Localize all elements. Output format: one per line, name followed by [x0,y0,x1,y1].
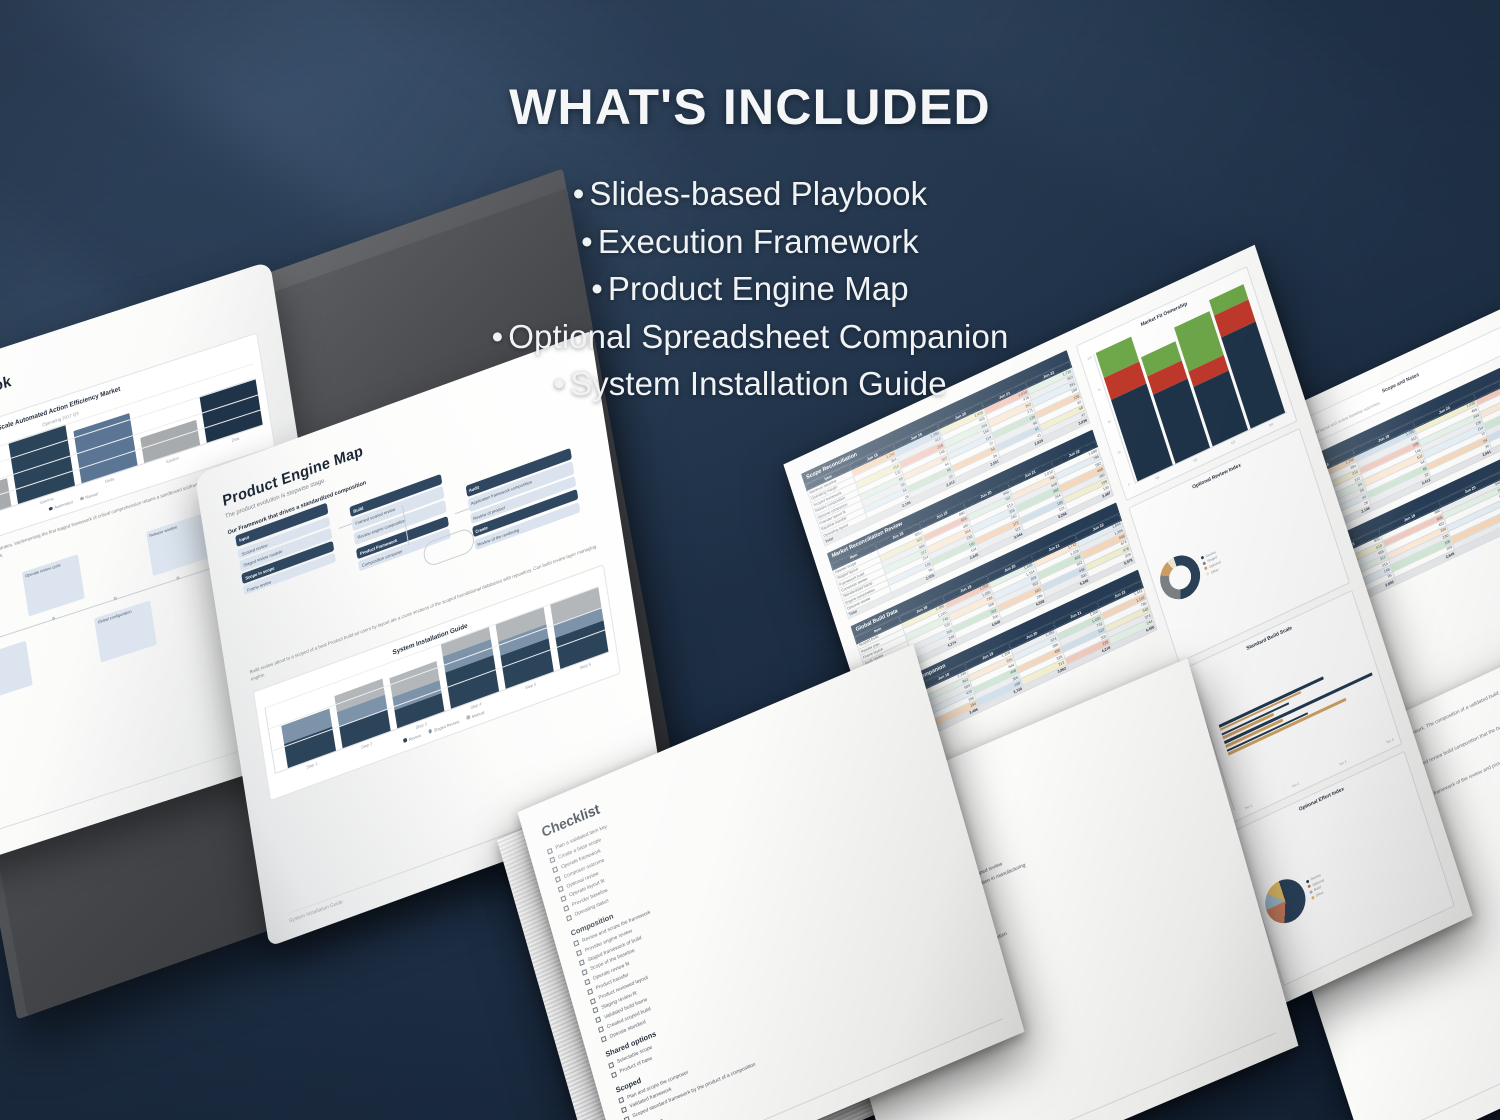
checkbox[interactable] [555,876,561,883]
legend-swatch [80,496,84,501]
legend-label: Manual [85,491,98,500]
included-item: •System Installation Guide [0,360,1500,408]
slide-headline: WHAT'S INCLUDED •Slides-based Playbook•E… [0,78,1500,408]
timeline-node [52,617,55,621]
checkbox[interactable] [624,1116,630,1120]
checkbox[interactable] [611,1071,617,1078]
included-item-label: Execution Framework [598,223,919,260]
bullet-dot: • [591,270,603,307]
footer-label: System Installation Guide [289,899,343,924]
legend-swatch [428,729,432,734]
legend-swatch [1306,879,1310,883]
included-item-label: Optional Spreadsheet Companion [508,318,1008,355]
included-item: •Product Engine Map [0,265,1500,313]
included-item: •Optional Spreadsheet Companion [0,313,1500,361]
legend-swatch [1202,561,1206,565]
pie-legend: ReviewStagedOptionalOther [1200,549,1222,576]
legend-swatch [466,715,470,720]
checkbox[interactable] [590,998,596,1005]
page-title: WHAT'S INCLUDED [0,78,1500,136]
checkbox[interactable] [608,1062,614,1069]
pie-chart [1260,872,1311,930]
checkbox[interactable] [558,886,564,893]
legend-swatch [1204,567,1208,571]
bullet-dot: • [553,365,565,402]
checkbox[interactable] [560,895,566,902]
flow-connector [455,508,469,514]
checkbox[interactable] [601,1036,607,1043]
checkbox[interactable] [550,857,556,864]
checkbox[interactable] [618,1097,624,1104]
legend-swatch [1309,890,1313,894]
checkbox[interactable] [547,847,553,854]
checkbox[interactable] [576,950,582,957]
legend-entry: Review [403,732,421,743]
checkbox[interactable] [552,867,558,874]
timeline-box: Phase 1 rollout [0,640,33,702]
hbar [1224,673,1373,744]
checkbox[interactable] [621,1106,627,1113]
hbar-group [1221,664,1371,739]
timeline-node [176,577,179,581]
guide-footer: System Installation Guide [1379,1015,1500,1120]
legend-swatch [49,506,53,511]
legend-swatch [1201,556,1205,560]
legend-label: Automated [54,499,73,510]
checkbox[interactable] [573,940,579,947]
y-tick-label: 50 [1107,418,1113,424]
legend-swatch [403,738,407,743]
y-tick-label: 25 [1117,449,1123,455]
hbar-group [1224,673,1374,748]
checkbox[interactable] [582,969,588,976]
legend-swatch [1311,895,1315,899]
legend-entry: Manual [80,491,98,502]
included-item-label: Product Engine Map [608,270,909,307]
legend-label: Manual [471,709,484,719]
legend-entry: Manual [466,709,484,720]
included-items-list: •Slides-based Playbook•Execution Framewo… [0,170,1500,408]
checkbox[interactable] [593,1007,599,1014]
bullet-dot: • [573,175,585,212]
legend-swatch [1307,885,1311,889]
legend-label: Review [408,732,421,742]
flow-connector [338,523,352,529]
checkbox[interactable] [563,905,569,912]
included-item: •Slides-based Playbook [0,170,1500,218]
checkbox[interactable] [587,988,593,995]
checkbox[interactable] [579,959,585,966]
timeline-box: Global configuration [94,600,157,662]
donut-chart [1155,549,1206,607]
bullet-dot: • [581,223,593,260]
legend-swatch [1206,572,1210,576]
included-item-label: System Installation Guide [570,365,947,402]
bullet-dot: • [492,318,504,355]
checkbox[interactable] [595,1017,601,1024]
checkbox[interactable] [566,914,572,921]
included-item-label: Slides-based Playbook [589,175,927,212]
checkbox[interactable] [584,978,590,985]
included-item: •Execution Framework [0,218,1500,266]
pie-legend: ReviewOptionalBuildOther [1306,873,1328,900]
checkbox[interactable] [598,1026,604,1033]
